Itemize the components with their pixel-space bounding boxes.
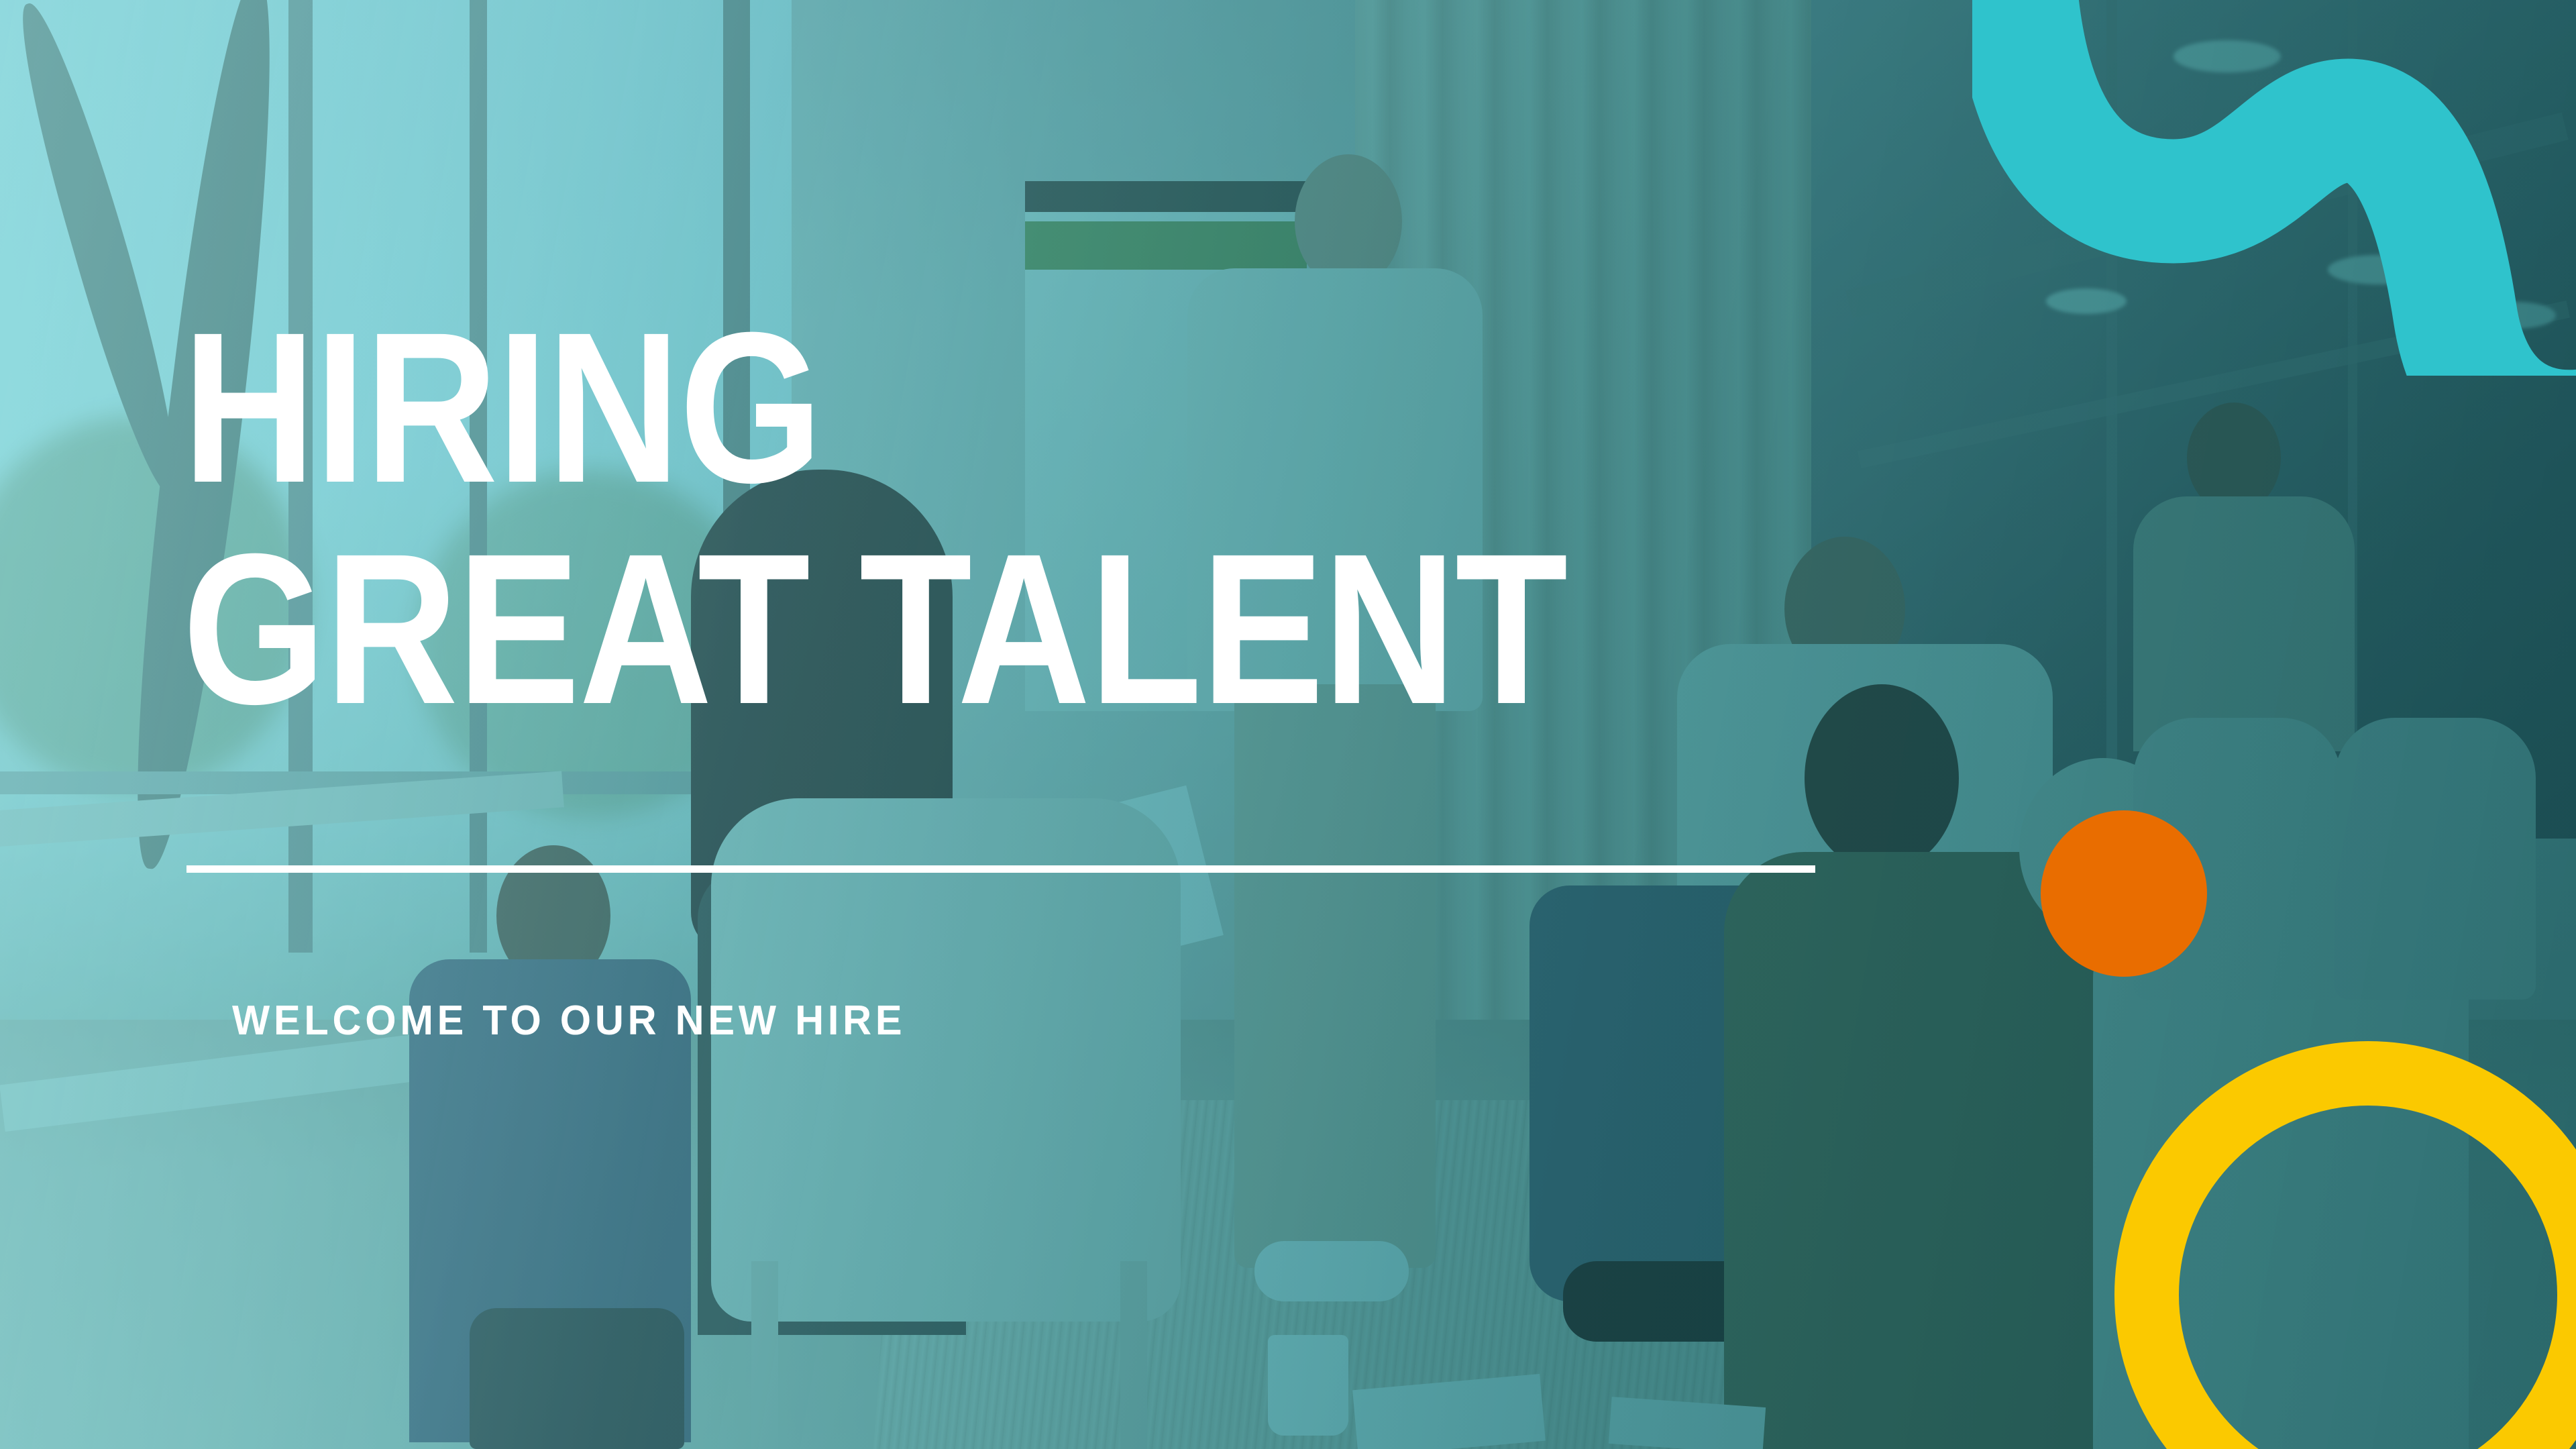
- horizontal-rule-divider: [186, 865, 1815, 873]
- headline-line-1: HIRING: [182, 319, 822, 495]
- headline-line-2: GREAT TALENT: [182, 541, 1567, 716]
- hiring-poster: HIRING GREAT TALENT WELCOME TO OUR NEW H…: [0, 0, 2576, 1449]
- subtitle-welcome-message: WELCOME TO OUR NEW HIRE: [232, 997, 906, 1044]
- poster-text-content: HIRING GREAT TALENT WELCOME TO OUR NEW H…: [0, 0, 2576, 1449]
